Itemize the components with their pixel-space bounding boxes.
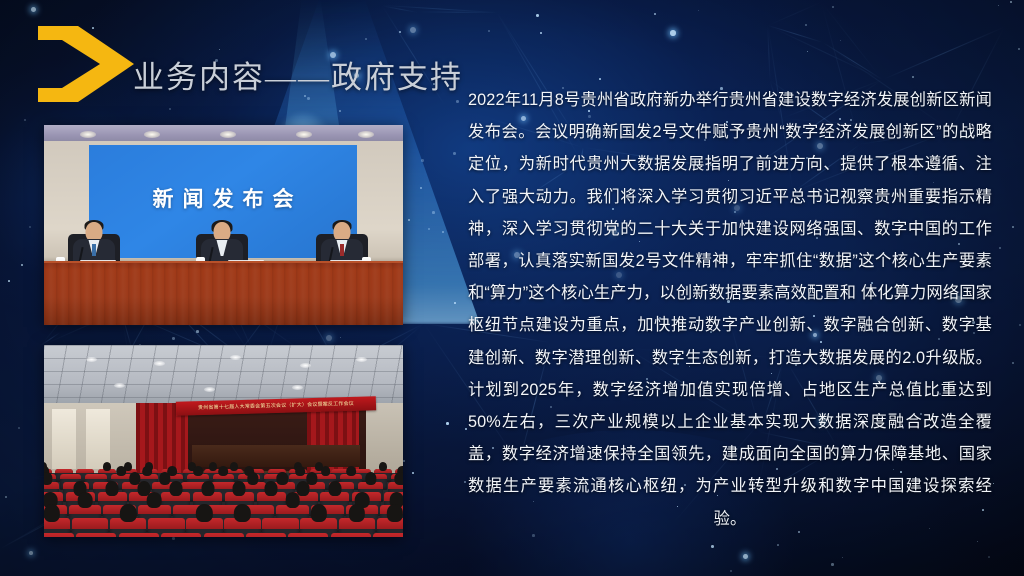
hall-ceiling-light [292, 385, 303, 390]
network-link [882, 27, 1003, 80]
seated-attendee [310, 504, 326, 522]
particle-dot [912, 76, 914, 78]
presentation-slide: 业务内容——政府支持 新闻发布会 [0, 0, 1024, 576]
seated-attendee [234, 504, 250, 522]
seated-attendee [285, 492, 300, 508]
seated-attendee [219, 466, 229, 477]
seated-attendee [209, 462, 217, 471]
auditorium-seat [331, 533, 371, 537]
particle-dot [1019, 324, 1021, 326]
press-conference-photo: 新闻发布会 [44, 125, 403, 325]
hall-window [52, 409, 76, 469]
auditorium-seat [288, 533, 328, 537]
particle-dot [488, 30, 490, 32]
particle-dot [599, 78, 601, 80]
particle-dot [446, 422, 449, 425]
particle-dot [777, 544, 779, 546]
particle-dot [169, 108, 171, 110]
particle-dot [465, 428, 467, 430]
particle-dot [1010, 1, 1012, 3]
particle-dot [399, 31, 401, 33]
pc-ceiling-lamp [144, 131, 160, 138]
hall-head-table [192, 445, 360, 467]
particle-dot [654, 13, 656, 15]
pc-ceiling-lamp [358, 131, 374, 138]
seated-attendee [159, 472, 170, 484]
seat-row [44, 533, 403, 537]
seated-attendee [169, 481, 182, 495]
network-link [821, 2, 883, 80]
seated-attendee [44, 504, 60, 522]
particle-dot [8, 280, 10, 282]
particle-dot [420, 187, 422, 189]
seated-attendee [395, 472, 403, 484]
particle-dot [730, 570, 732, 572]
particle-dot [442, 231, 444, 233]
particle-dot [403, 460, 405, 462]
pc-screen-caption: 新闻发布会 [89, 183, 357, 213]
pc-tie [340, 244, 344, 256]
seated-attendee [106, 481, 119, 495]
particle-dot [432, 211, 435, 214]
pc-tie [92, 244, 96, 256]
particle-dot [1018, 48, 1020, 50]
particle-dot [977, 541, 978, 542]
particle-dot [219, 49, 220, 50]
hall-ceiling-light [300, 363, 311, 368]
auditorium-meeting-photo: 贵州省第十七届人大常委会第五次会议（扩大）会议暨案反工作会议 [44, 345, 403, 537]
hall-ceiling-light [356, 357, 367, 362]
particle-dot [999, 247, 1001, 249]
seated-attendee [321, 466, 331, 477]
particle-dot [29, 551, 33, 555]
pc-ceiling-lamp [220, 131, 236, 138]
network-link [382, 5, 497, 13]
pc-ceiling-lamp [80, 131, 96, 138]
seated-attendee [103, 462, 111, 471]
pc-conference-desk [44, 261, 403, 325]
seated-attendee [348, 504, 364, 522]
particle-dot [743, 554, 748, 559]
particle-dot [805, 24, 807, 26]
body-paragraph: 2022年11月8号贵州省政府新办举行贵州省建设数字经济发展创新区新闻发布会。会… [468, 84, 992, 535]
particle-dot [998, 5, 999, 6]
particle-dot [464, 481, 466, 483]
particle-dot [1012, 226, 1014, 228]
particle-dot [31, 7, 36, 12]
auditorium-seat [76, 533, 116, 537]
particle-dot [670, 30, 676, 36]
particle-dot [807, 51, 808, 52]
seated-attendee [120, 504, 136, 522]
particle-dot [326, 335, 332, 341]
particle-dot [29, 226, 31, 228]
seated-attendee [196, 504, 212, 522]
hall-ceiling-light [230, 355, 241, 360]
particle-dot [408, 219, 410, 221]
network-link [768, 25, 823, 43]
pc-desk-grain [44, 263, 403, 325]
network-link [41, 332, 60, 345]
particle-dot [988, 556, 990, 558]
particle-dot [536, 14, 539, 17]
particle-dot [454, 302, 456, 304]
seated-attendee [297, 481, 310, 495]
hall-ceiling-light [86, 357, 97, 362]
hall-ceiling-light [114, 383, 125, 388]
seated-attendee [230, 462, 238, 471]
seated-attendee [265, 481, 278, 495]
network-link [418, 12, 497, 14]
network-link [382, 5, 418, 12]
network-link [823, 42, 883, 80]
seated-attendee [117, 466, 127, 477]
seated-attendee [295, 466, 305, 477]
particle-dot [307, 97, 310, 100]
page-title: 业务内容——政府支持 [133, 52, 463, 97]
particle-dot [18, 427, 20, 429]
particle-dot [339, 110, 341, 112]
auditorium-seat [246, 533, 286, 537]
network-link [768, 25, 883, 80]
auditorium-seat [161, 533, 201, 537]
particle-dot [831, 563, 834, 566]
auditorium-seat [44, 533, 74, 537]
particle-dot [1012, 362, 1014, 364]
particle-dot [993, 483, 994, 484]
hall-ceiling-light [204, 387, 215, 392]
particle-dot [410, 27, 416, 33]
particle-dot [428, 228, 430, 230]
seated-attendee [346, 466, 356, 477]
seated-attendee [328, 481, 341, 495]
particle-dot [840, 40, 841, 41]
seated-attendee [78, 492, 93, 508]
seated-attendee [365, 472, 376, 484]
auditorium-seat [204, 533, 244, 537]
particle-dot [421, 159, 424, 162]
auditorium-seat [373, 533, 403, 537]
particle-dot [540, 32, 542, 34]
seated-attendee [387, 504, 403, 522]
seated-attendee [201, 481, 214, 495]
particle-dot [832, 6, 834, 8]
seated-attendee [233, 481, 246, 495]
particle-dot [340, 337, 341, 338]
particle-dot [456, 100, 459, 103]
seated-attendee [379, 462, 387, 471]
hall-ceiling-light [154, 361, 165, 366]
particle-dot [21, 264, 23, 266]
particle-dot [698, 10, 699, 11]
hall-window [86, 409, 110, 469]
pc-ceiling-lamp [296, 131, 312, 138]
seated-attendee [147, 492, 162, 508]
particle-dot [172, 537, 175, 540]
seated-attendee [247, 472, 258, 484]
particle-dot [412, 472, 414, 474]
particle-dot [172, 337, 175, 340]
seated-attendee [44, 472, 52, 484]
seated-attendee [142, 466, 152, 477]
particle-dot [453, 152, 456, 155]
particle-dot [24, 119, 26, 121]
particle-dot [711, 545, 714, 548]
network-link [768, 2, 822, 26]
particle-dot [196, 330, 199, 333]
auditorium-seat [119, 533, 159, 537]
particle-dot [5, 496, 7, 498]
seated-attendee [277, 472, 288, 484]
particle-dot [842, 557, 843, 558]
particle-dot [365, 38, 367, 40]
network-link [767, 26, 770, 81]
seated-attendee [193, 466, 203, 477]
